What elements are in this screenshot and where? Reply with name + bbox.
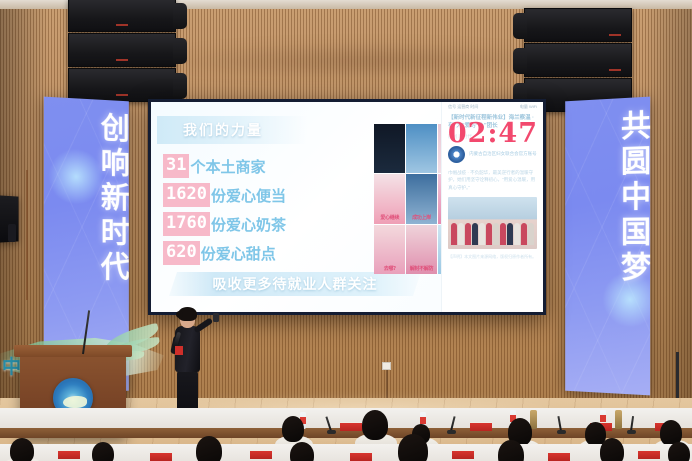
stat-row: 1620 份爱心便当 [163, 183, 286, 207]
name-card [638, 450, 660, 459]
speaker-module [68, 0, 176, 32]
desk-microphone-base [447, 430, 456, 434]
slide-statistics-list: 31 个本土商家 1620 份爱心便当 1760 份爱心奶茶 620 份爱心甜点 [163, 154, 286, 270]
slide-footer-band: 吸收更多待就业人群关注 [169, 272, 421, 296]
stat-label: 份爱心奶茶 [211, 214, 286, 235]
right-led-banner: 共圆中国梦 [565, 97, 650, 396]
audience-head [10, 438, 34, 461]
audience-area [0, 398, 692, 461]
status-right: 电量 WiFi [520, 104, 537, 110]
audience-head [362, 410, 388, 440]
stat-number: 1620 [163, 183, 210, 207]
left-banner-text: 创响新时代 [44, 109, 129, 287]
podium-top-surface [14, 345, 132, 357]
speaker-module [68, 68, 176, 102]
audience-head [398, 434, 428, 461]
photo-crowd [451, 223, 534, 245]
stat-row: 31 个本土商家 [163, 154, 286, 178]
name-card [340, 422, 362, 431]
collage-tile-caption: 去哪? [374, 267, 405, 272]
collage-tile-caption: 成功上岸 [406, 216, 437, 221]
conference-hall-scene: 创响新时代 共圆中国梦 我们的力量 31 个本土商家 1620 份爱心便当 [0, 0, 692, 461]
speaker-module [68, 33, 176, 67]
name-card [250, 450, 272, 459]
stat-label: 份爱心甜点 [201, 243, 276, 264]
right-banner-text: 共圆中国梦 [565, 109, 650, 287]
phone-status-bar: 信号 运营商 时间 电量 WiFi [442, 102, 543, 111]
desk-microphone-base [557, 430, 566, 434]
slide-clicker-icon [213, 313, 219, 322]
collage-tile: 爱心继续 [374, 174, 405, 223]
slide-footer-text: 吸收更多待就业人群关注 [213, 274, 378, 294]
stat-row: 1760 份爱心奶茶 [163, 212, 286, 236]
audience-head [600, 438, 624, 461]
desk-microphone-base [327, 430, 336, 434]
speaker-module [524, 43, 632, 77]
wall-cable-conduit [26, 170, 28, 300]
desk-microphone-base [627, 430, 636, 434]
audience-head [92, 442, 114, 461]
collage-tile-caption: 爱心继续 [374, 216, 405, 221]
speaker-led [609, 69, 621, 71]
speaker-led [116, 59, 128, 61]
microphone-flag [175, 346, 183, 355]
presenter-hair-bun [176, 311, 183, 318]
audience-head [196, 436, 222, 461]
article-photo [448, 197, 537, 249]
stat-number: 31 [163, 154, 189, 178]
speaker-led [116, 24, 128, 26]
name-card [470, 422, 492, 431]
projection-screen: 我们的力量 31 个本土商家 1620 份爱心便当 1760 份爱心奶茶 [151, 102, 543, 312]
slide-left-pane: 我们的力量 31 个本土商家 1620 份爱心便当 1760 份爱心奶茶 [151, 102, 378, 312]
hanging-cable [386, 370, 388, 398]
wall-camera [8, 224, 16, 242]
stat-number: 620 [163, 241, 200, 265]
collage-tile-caption: 解封不解防 [406, 267, 437, 272]
article-body-text: 巾帼战疫 · 不负韶华，最美逆行者的温暖守护，她们用坚守诠释初心，“用爱心温暖，… [442, 163, 543, 191]
countdown-timer: 02:47 [448, 120, 538, 147]
name-card [548, 452, 570, 461]
stat-number: 1760 [163, 212, 210, 236]
speaker-led [116, 94, 128, 96]
collage-tile [406, 124, 437, 173]
status-left: 信号 运营商 时间 [448, 104, 478, 110]
name-card [350, 452, 372, 461]
audience-head [290, 442, 314, 461]
line-array-speaker-left [68, 0, 176, 103]
name-card [452, 450, 474, 459]
presenter-raised-arm [193, 317, 213, 333]
name-card [58, 450, 80, 459]
name-card [150, 452, 172, 461]
collage-tile: 成功上岸 [406, 174, 437, 223]
slide-title-band: 我们的力量 [157, 116, 307, 144]
speaker-module [524, 8, 632, 42]
collage-tile [374, 124, 405, 173]
speaker-led [609, 34, 621, 36]
article-footer-note: 【声明】本文图片来源网络，版权归原作者所有。 [442, 249, 543, 265]
audience-head [668, 442, 690, 461]
stat-row: 620 份爱心甜点 [163, 241, 286, 265]
stat-label: 份爱心便当 [211, 185, 286, 206]
wall-power-outlet [382, 362, 391, 370]
audience-head [282, 416, 304, 442]
stat-label: 个本土商家 [190, 156, 265, 177]
projection-screen-frame: 我们的力量 31 个本土商家 1620 份爱心便当 1760 份爱心奶茶 [148, 99, 546, 315]
collage-tile: 去哪? [374, 225, 405, 274]
line-array-speaker-right [524, 8, 632, 113]
thermos [615, 410, 622, 429]
publisher-name: 内蒙古自治区妇女联合会官方账号 [469, 151, 537, 157]
slide-title: 我们的力量 [183, 120, 263, 140]
collage-tile: 解封不解防 [406, 225, 437, 274]
